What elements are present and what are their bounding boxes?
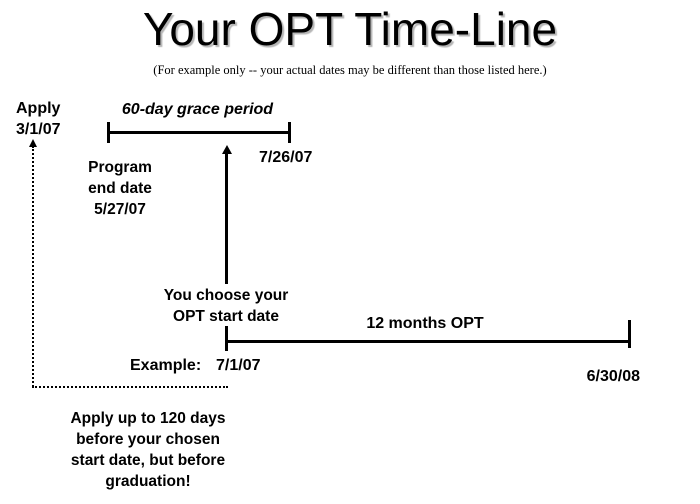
program-end-date-value: 5/27/07 <box>62 199 178 220</box>
page-title: Your OPT Time-Line <box>0 2 700 56</box>
opt-timeline-diagram: Your OPT Time-Line (For example only -- … <box>0 0 700 504</box>
page-subtitle: (For example only -- your actual dates m… <box>0 62 700 78</box>
grace-period-label: 60-day grace period <box>107 100 288 120</box>
opt-duration-label: 12 months OPT <box>280 313 570 334</box>
apply-dotted-horizontal-line <box>32 386 228 388</box>
opt-end-date: 6/30/08 <box>544 366 640 387</box>
opt-start-arrow-shaft <box>225 153 228 284</box>
program-end-date-line1: Program <box>62 157 178 178</box>
opt-start-label-line1: You choose your <box>138 285 314 306</box>
opt-duration-bar <box>225 340 631 343</box>
apply-label: Apply <box>16 98 106 119</box>
footnote-line4: graduation! <box>37 471 259 492</box>
opt-end-tick <box>628 320 631 348</box>
grace-period-end-tick <box>288 122 291 143</box>
opt-start-example-label: Example: <box>130 355 210 376</box>
footnote-line3: start date, but before <box>37 450 259 471</box>
apply-dotted-vertical-line <box>32 146 34 387</box>
footnote-line2: before your chosen <box>37 429 259 450</box>
grace-period-bar <box>107 131 291 134</box>
program-end-date-line2: end date <box>62 178 178 199</box>
grace-period-end-date: 7/26/07 <box>259 147 349 168</box>
opt-start-tick <box>225 326 228 351</box>
opt-start-example-date: 7/1/07 <box>216 355 306 376</box>
apply-date: 3/1/07 <box>16 119 106 140</box>
footnote-line1: Apply up to 120 days <box>37 408 259 429</box>
